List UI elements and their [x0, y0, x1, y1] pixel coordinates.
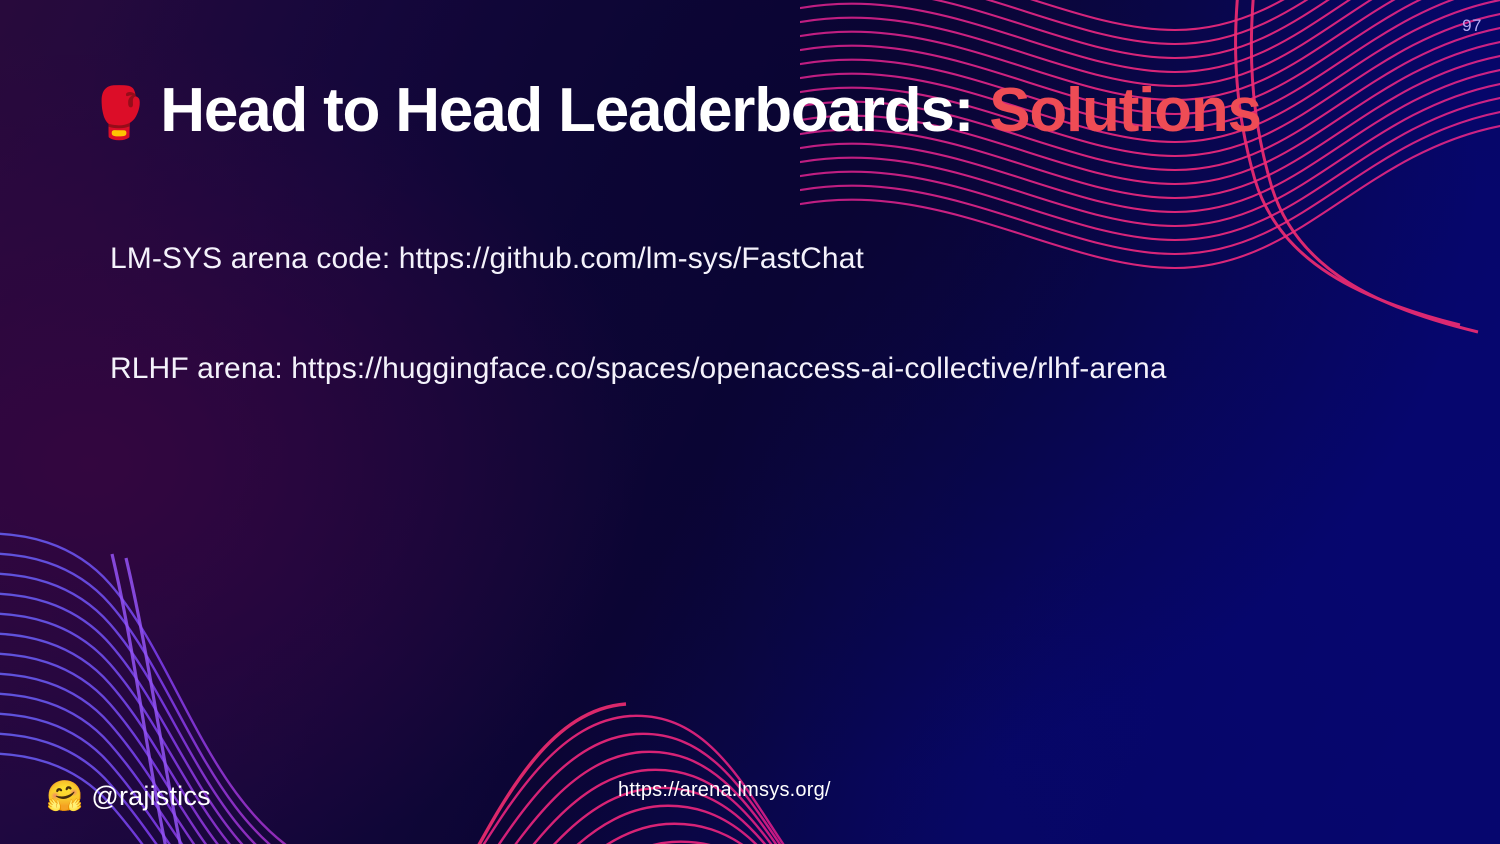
body-line-rlhf: RLHF arena: https://huggingface.co/space…	[110, 350, 1430, 388]
title-accent-text: Solutions	[989, 76, 1261, 145]
boxing-glove-icon: 🥊	[88, 88, 150, 138]
wave-decoration-bottom-center	[430, 654, 950, 844]
slide-title: 🥊 Head to Head Leaderboards: Solutions	[88, 78, 1261, 143]
slide-body: LM-SYS arena code: https://github.com/lm…	[110, 240, 1430, 387]
title-main-text: Head to Head Leaderboards:	[160, 76, 989, 145]
slide-canvas: 97 🥊 Head to Head Leaderboards: Solution…	[0, 0, 1500, 844]
title-text: Head to Head Leaderboards: Solutions	[160, 78, 1261, 143]
footer-url: https://arena.lmsys.org/	[618, 779, 831, 802]
hugging-face-icon: 🤗	[46, 782, 83, 812]
body-line-lmsys: LM-SYS arena code: https://github.com/lm…	[110, 240, 1430, 278]
footer-handle-text: @rajistics	[91, 781, 210, 812]
footer-handle: 🤗 @rajistics	[46, 781, 211, 812]
page-number: 97	[1462, 16, 1482, 36]
